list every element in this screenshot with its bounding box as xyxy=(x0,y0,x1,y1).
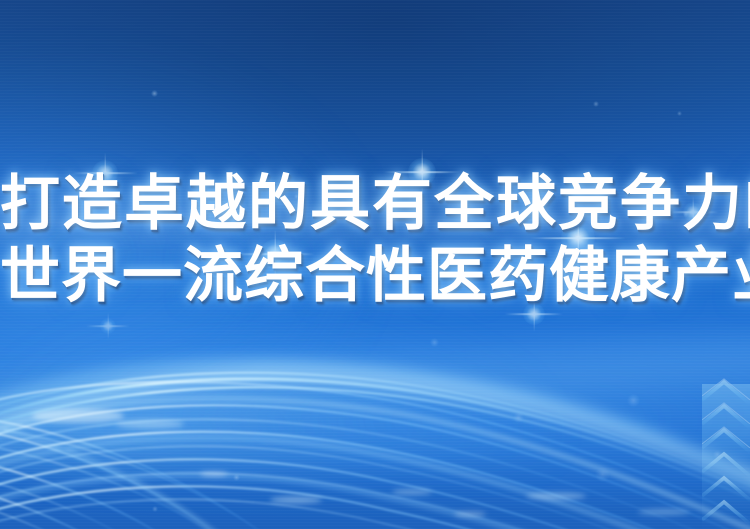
chevron-up-stack-icon xyxy=(702,378,750,529)
banner-title-block: 打造卓越的具有全球竞争力的 世界一流综合性医药健康产业集团 xyxy=(0,168,750,312)
title-line-1: 打造卓越的具有全球竞争力的 xyxy=(0,168,750,240)
title-line-2: 世界一流综合性医药健康产业集团 xyxy=(0,240,750,312)
vision-banner: 打造卓越的具有全球竞争力的 世界一流综合性医药健康产业集团 xyxy=(0,0,750,529)
